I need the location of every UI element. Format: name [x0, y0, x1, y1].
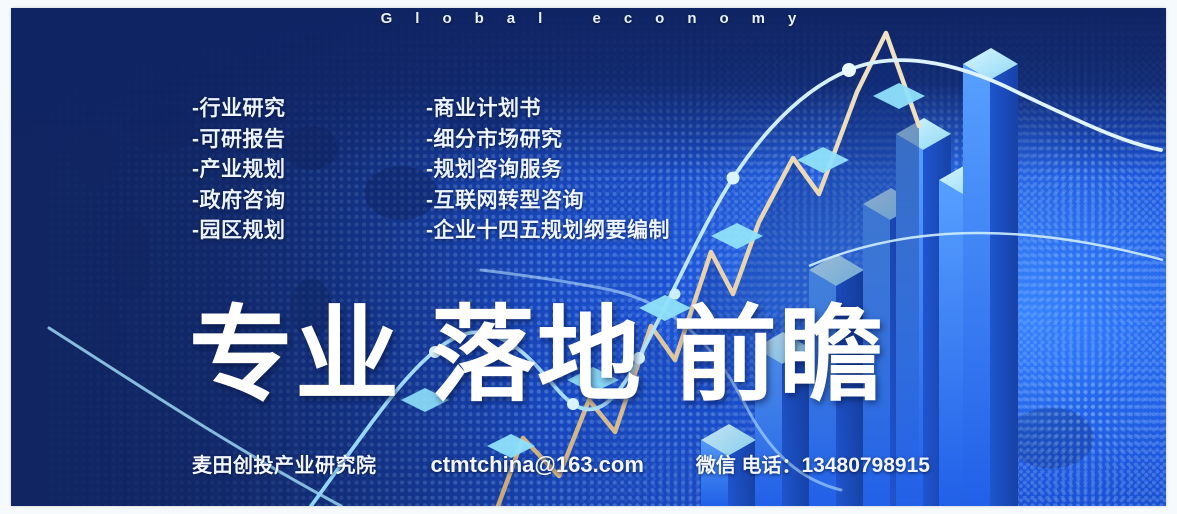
phone-number[interactable]: 13480798915	[801, 454, 929, 478]
email-address[interactable]: ctmtchina@163.com	[431, 452, 644, 478]
global-economy-banner: Global economy -行业研究 -可研报告 -产业规划 -政府咨询 -…	[11, 8, 1166, 506]
page-title: 专业落地前瞻	[189, 304, 885, 408]
chart-artwork	[11, 8, 1166, 506]
footer-contact-bar: 麦田创投产业研究院 ctmtchina@163.com 微信 电话： 13480…	[192, 449, 930, 478]
services-list-right: -商业计划书 -细分市场研究 -规划咨询服务 -互联网转型咨询 -企业十四五规划…	[426, 94, 670, 247]
screenshot-canvas: Global economy -行业研究 -可研报告 -产业规划 -政府咨询 -…	[0, 0, 1177, 514]
service-item: -企业十四五规划纲要编制	[426, 216, 670, 247]
service-item: -可研报告	[192, 125, 286, 156]
contact-label: 微信 电话：	[696, 449, 802, 478]
headline-word-2: 落地	[431, 298, 643, 414]
service-item: -商业计划书	[426, 94, 670, 125]
service-item: -细分市场研究	[426, 125, 670, 156]
headline-word-3: 前瞻	[673, 298, 885, 414]
service-item: -产业规划	[192, 155, 286, 186]
service-item: -行业研究	[192, 94, 286, 125]
kicker-global-economy: Global economy	[11, 10, 1166, 27]
service-item: -互联网转型咨询	[426, 186, 670, 217]
service-item: -规划咨询服务	[426, 155, 670, 186]
service-item: -园区规划	[192, 216, 286, 247]
service-item: -政府咨询	[192, 186, 286, 217]
headline-word-1: 专业	[189, 298, 401, 414]
services-list-left: -行业研究 -可研报告 -产业规划 -政府咨询 -园区规划	[192, 94, 286, 247]
organization-name: 麦田创投产业研究院	[192, 449, 377, 478]
